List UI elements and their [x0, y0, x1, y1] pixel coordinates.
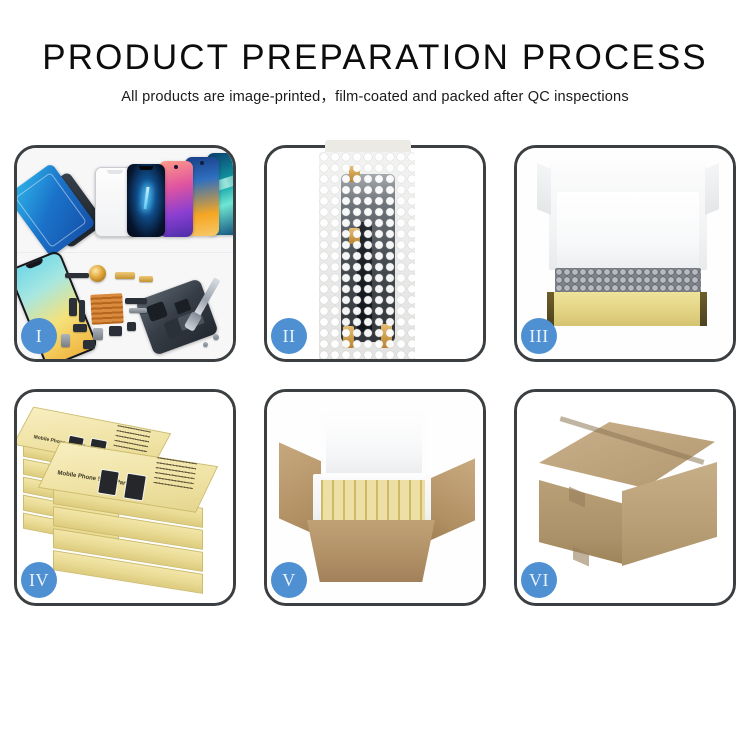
spare-part-chip — [69, 298, 77, 316]
gold-tab-part — [343, 326, 354, 348]
bubble-wrap-bag — [319, 152, 415, 359]
process-step-3: III — [514, 145, 736, 362]
flex-cable-part — [357, 222, 372, 332]
gold-tab-part — [349, 166, 360, 182]
wrapped-screen-part — [341, 174, 395, 342]
kraft-box-front — [547, 292, 707, 326]
step-number-badge-2: II — [271, 318, 307, 354]
retail-box-screen-art — [123, 473, 147, 502]
spare-part-chip — [127, 322, 136, 331]
spare-part-chip — [79, 300, 85, 322]
process-step-2: II — [264, 145, 486, 362]
process-step-6: VI — [514, 389, 736, 606]
page-title: PRODUCT PREPARATION PROCESS — [0, 38, 750, 78]
spare-part-chip — [125, 298, 147, 304]
spare-part-chip — [65, 273, 89, 278]
process-step-5: V — [264, 389, 486, 606]
foam-sheet — [557, 192, 699, 268]
step-number-badge-4: IV — [21, 562, 57, 598]
carton-body — [307, 520, 435, 582]
spare-part-chip — [115, 272, 135, 279]
screw-part — [213, 334, 219, 340]
step-number-badge-5: V — [271, 562, 307, 598]
spare-part-chip — [93, 328, 103, 340]
screw-part — [203, 342, 208, 347]
step-number-badge-1: I — [21, 318, 57, 354]
process-step-grid: I II — [14, 145, 738, 606]
gold-tab-part — [381, 324, 392, 348]
phone-dark-graphic — [127, 164, 165, 237]
copper-board-part — [90, 293, 124, 325]
bubble-wrap-filling — [555, 268, 701, 294]
process-step-1: I — [14, 145, 236, 362]
step-number-badge-3: III — [521, 318, 557, 354]
spare-part-chip — [73, 324, 87, 332]
spare-part-chip — [61, 334, 70, 347]
retail-box-screen-art — [97, 469, 120, 497]
retail-box-text-block — [153, 457, 197, 491]
spare-part-chip — [129, 308, 147, 313]
spare-part-chip — [109, 326, 122, 336]
packed-retail-boxes — [321, 480, 425, 520]
styrofoam-lid — [321, 412, 427, 478]
process-step-4: Mobile Phone Spare Parts Mobile Phone Sp… — [14, 389, 236, 606]
gold-tab-part — [349, 228, 360, 244]
header: PRODUCT PREPARATION PROCESS All products… — [0, 0, 750, 106]
spare-part-chip — [139, 276, 153, 282]
step-number-badge-6: VI — [521, 562, 557, 598]
spare-part-chip — [83, 340, 95, 349]
page-subtitle: All products are image-printed，film-coat… — [0, 88, 750, 106]
taptic-coil-part — [89, 265, 106, 282]
